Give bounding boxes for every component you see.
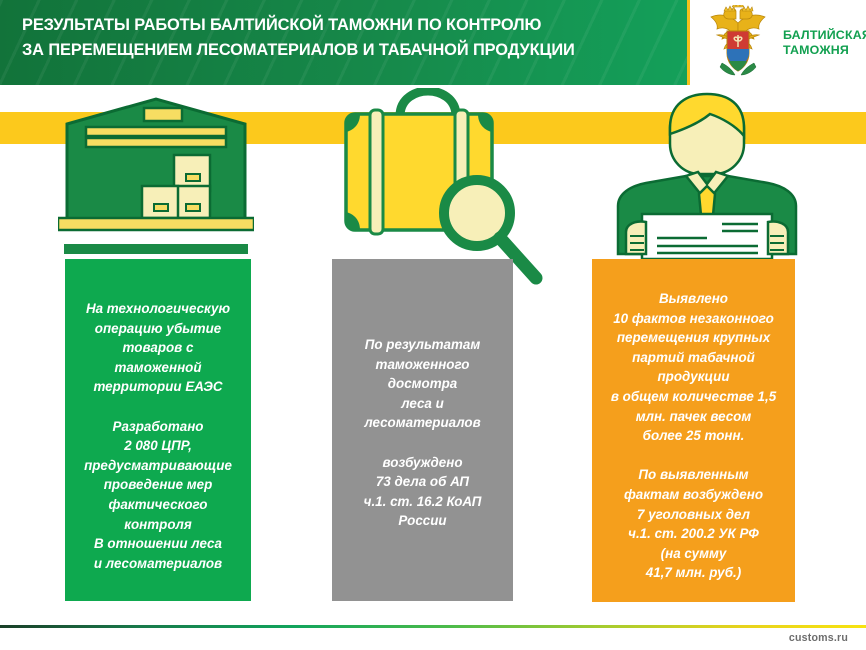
russian-customs-double-headed-eagle-emblem — [702, 5, 774, 81]
logo-label: БАЛТИЙСКАЯ ТАМОЖНЯ — [783, 28, 866, 58]
panel-orange: Выявлено 10 фактов незаконного перемещен… — [592, 259, 795, 602]
panel-gray: По результатам таможенного досмотра леса… — [332, 259, 513, 601]
panel-orange-text: Выявлено 10 фактов незаконного перемещен… — [602, 289, 785, 583]
panel-green-text: На технологическую операцию убытие товар… — [75, 299, 241, 573]
footer-divider — [0, 625, 866, 628]
presentation-slide: РЕЗУЛЬТАТЫ РАБОТЫ БАЛТИЙСКОЙ ТАМОЖНИ ПО … — [0, 0, 866, 650]
header-banner: РЕЗУЛЬТАТЫ РАБОТЫ БАЛТИЙСКОЙ ТАМОЖНИ ПО … — [0, 0, 690, 85]
footer-website-link[interactable]: customs.ru — [789, 632, 848, 644]
customs-logo: БАЛТИЙСКАЯ ТАМОЖНЯ — [694, 0, 866, 85]
customs-officer-document-icon — [612, 86, 802, 261]
warehouse-icon — [58, 96, 254, 256]
page-title: РЕЗУЛЬТАТЫ РАБОТЫ БАЛТИЙСКОЙ ТАМОЖНИ ПО … — [22, 13, 672, 63]
panel-gray-text: По результатам таможенного досмотра леса… — [342, 335, 503, 531]
panel-green: На технологическую операцию убытие товар… — [65, 259, 251, 601]
